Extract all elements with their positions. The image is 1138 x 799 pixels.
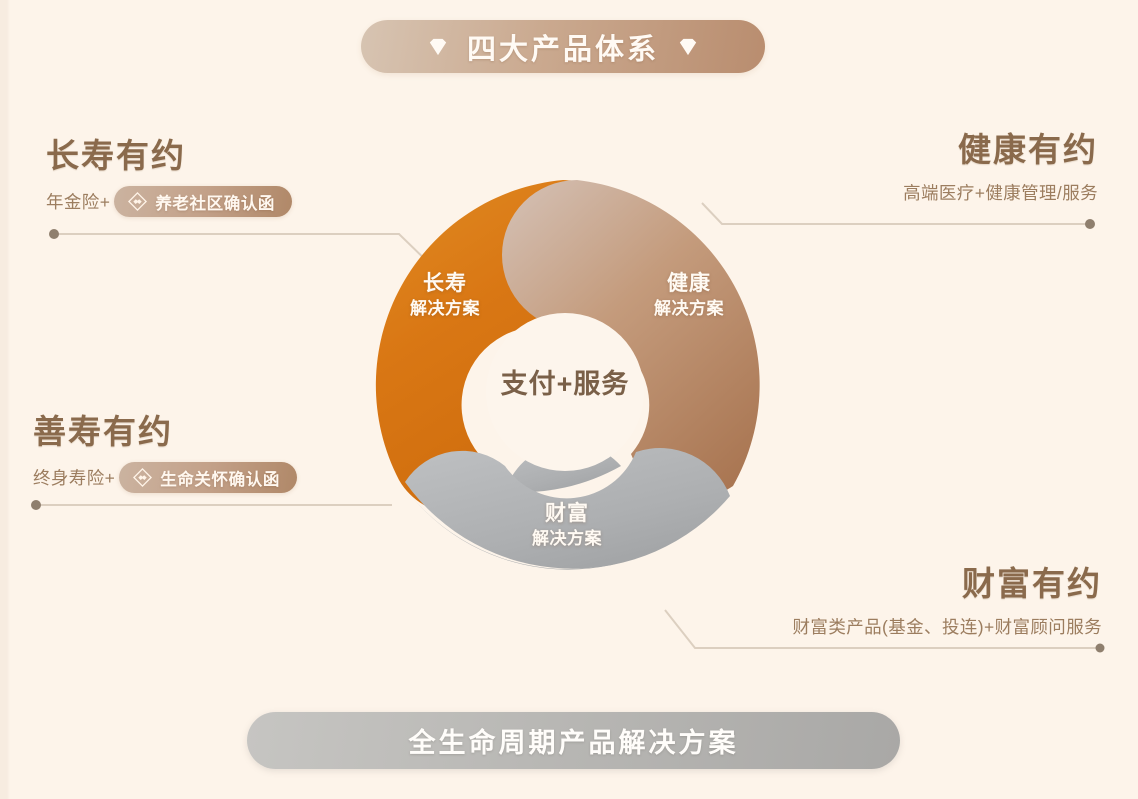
side-block-kindness: 善寿有约 终身寿险+ 生命关怀确认函 (33, 405, 297, 493)
tag-pill-retirement-community[interactable]: 养老社区确认函 (114, 186, 292, 217)
side-block-longevity-sub: 年金险+ 养老社区确认函 (46, 186, 292, 217)
side-block-kindness-title: 善寿有约 (33, 405, 297, 453)
connector-dot-wealth (1096, 644, 1105, 653)
side-block-longevity: 长寿有约 年金险+ 养老社区确认函 (46, 129, 292, 217)
diamond-icon (677, 37, 699, 57)
side-block-wealth-title: 财富有约 (793, 557, 1102, 605)
side-block-health-title: 健康有约 (903, 123, 1098, 171)
donut-center-label: 支付+服务 (465, 362, 665, 401)
side-block-health-sub: 高端医疗+健康管理/服务 (903, 180, 1098, 205)
connector-dot-health (1085, 219, 1095, 229)
side-block-wealth-sub: 财富类产品(基金、投连)+财富顾问服务 (793, 614, 1102, 639)
diamond-icon (427, 37, 449, 57)
handshake-diamond-icon (127, 191, 148, 212)
title-badge: 四大产品体系 (361, 20, 765, 73)
tag-pill-retirement-community-label: 养老社区确认函 (155, 190, 275, 214)
tag-pill-life-care-label: 生命关怀确认函 (160, 466, 280, 490)
side-block-kindness-prefix: 终身寿险+ (33, 465, 115, 490)
infographic-canvas: 四大产品体系 (0, 0, 1138, 799)
side-block-kindness-sub: 终身寿险+ 生命关怀确认函 (33, 462, 297, 493)
connector-dot-longevity (49, 229, 59, 239)
bottom-banner-label: 全生命周期产品解决方案 (409, 721, 739, 760)
side-block-longevity-title: 长寿有约 (46, 129, 292, 177)
side-block-health: 健康有约 高端医疗+健康管理/服务 (903, 123, 1098, 205)
handshake-diamond-icon (132, 467, 153, 488)
tag-pill-life-care[interactable]: 生命关怀确认函 (119, 462, 297, 493)
bottom-banner: 全生命周期产品解决方案 (247, 712, 900, 769)
connector-dot-kindness (31, 500, 41, 510)
donut-chart: 长寿 解决方案 健康 解决方案 财富 解决方案 支付+服务 (345, 166, 785, 608)
side-block-wealth: 财富有约 财富类产品(基金、投连)+财富顾问服务 (793, 557, 1102, 639)
side-block-longevity-prefix: 年金险+ (46, 189, 110, 214)
title-badge-label: 四大产品体系 (467, 26, 659, 68)
